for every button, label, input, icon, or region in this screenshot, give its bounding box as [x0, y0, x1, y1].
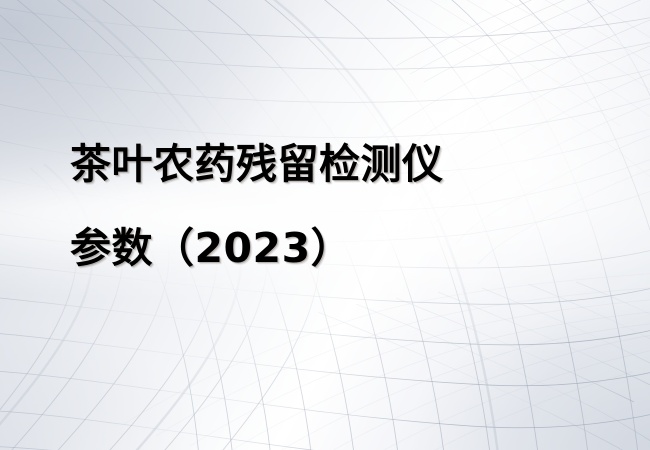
title-line-1: 茶叶农药残留检测仪	[70, 122, 610, 206]
title-line-2: 参数（2023）	[70, 206, 610, 290]
title-slide: 茶叶农药残留检测仪 参数（2023）	[0, 0, 650, 450]
slide-title: 茶叶农药残留检测仪 参数（2023）	[70, 122, 610, 290]
